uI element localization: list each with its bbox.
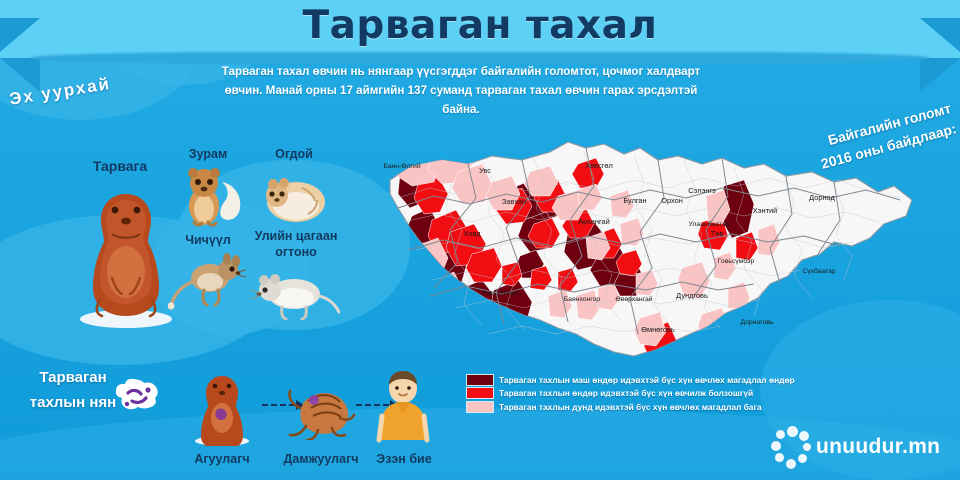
animal-label-white-vole: Улийн цагаан огтоно <box>246 228 346 260</box>
intro-paragraph: Тарваган тахал өвчин нь нянгаар үүсгэгдд… <box>205 62 717 119</box>
page-title: Тарваган тахал <box>0 0 960 56</box>
province-label: Говь-Алтай <box>482 289 518 297</box>
bacteria-icon <box>112 378 166 418</box>
legend-swatch-medium <box>466 401 494 413</box>
hamster-icon <box>262 170 330 226</box>
animal-label-marmot: Тарвага <box>80 158 160 174</box>
legend-swatch-very-high <box>466 374 494 386</box>
legend-item: Тарваган тахлын маш өндөр идэвхтэй бүс х… <box>466 374 886 387</box>
flea-icon <box>284 378 358 440</box>
province-label: Төв <box>711 229 724 238</box>
legend-item: Тарваган тахлын өндөр идэвхтэй бүс хүн ө… <box>466 387 886 400</box>
legend-label-medium: Тарваган тахлын дунд идэвхтэй бүс хүн өв… <box>499 402 762 412</box>
white-vole-icon <box>250 270 340 320</box>
animal-label-jerboa: Чичүүл <box>175 233 241 247</box>
ribbon-tail-right <box>920 58 960 92</box>
province-label: Говьсүмбэр <box>718 257 755 265</box>
animal-label-ground-squirrel: Зурам <box>178 147 238 161</box>
province-label: Хэнтий <box>753 206 777 215</box>
province-label: Улаанбаатар <box>689 220 730 228</box>
jerboa-icon <box>168 252 246 310</box>
province-label: Дорнод <box>809 193 835 202</box>
province-label: Баян-Өлгий <box>383 162 420 170</box>
watermark-text: unuudur.mn <box>816 435 940 459</box>
legend-label-very-high: Тарваган тахлын маш өндөр идэвхтэй бүс х… <box>499 375 795 385</box>
map-legend: Тарваган тахлын маш өндөр идэвхтэй бүс х… <box>466 374 886 414</box>
province-label: Архангай <box>578 217 610 226</box>
chain-label-host: Агуулагч <box>180 452 264 466</box>
dots-circle-logo-icon <box>770 426 812 468</box>
infographic-canvas: Тарваган тахал Тарваган тахал өвчин нь н… <box>0 0 960 480</box>
province-label: Дорноговь <box>740 319 773 326</box>
ground-squirrel-icon <box>180 166 246 228</box>
province-label: Баянхонгор <box>564 296 601 303</box>
province-label: Өмнөговь <box>641 325 675 334</box>
province-label: Булган <box>623 196 646 205</box>
province-label: Хөвсгөл <box>585 161 613 170</box>
map-svg: Баян-ӨлгийУвсХөвсгөлЗавханБулганОрхонАрх… <box>372 138 928 378</box>
chain-label-human: Эзэн бие <box>362 452 446 466</box>
mongolia-risk-map: Баян-ӨлгийУвсХөвсгөлЗавханБулганОрхонАрх… <box>372 138 928 378</box>
legend-item: Тарваган тахлын дунд идэвхтэй бүс хүн өв… <box>466 400 886 413</box>
chain-label-vector: Дамжуулагч <box>268 452 374 466</box>
province-label: Ховд <box>463 229 481 238</box>
province-label: Сүхбаатар <box>802 267 836 275</box>
province-label: Өвөрхангай <box>615 295 652 303</box>
watermark: unuudur.mn <box>770 426 940 468</box>
province-label: Увс <box>479 166 491 175</box>
human-icon <box>374 368 432 448</box>
province-label: Сэлэнгэ <box>688 186 716 195</box>
marmot-icon <box>190 370 254 446</box>
marmot-icon <box>72 180 180 328</box>
animal-label-hamster: Огдой <box>264 147 324 161</box>
province-label: Дундговь <box>676 291 708 300</box>
legend-swatch-high <box>466 387 494 399</box>
legend-label-high: Тарваган тахлын өндөр идэвхтэй бүс хүн ө… <box>499 388 753 398</box>
province-label: Завхан <box>502 197 526 206</box>
province-label: Орхон <box>661 196 683 205</box>
